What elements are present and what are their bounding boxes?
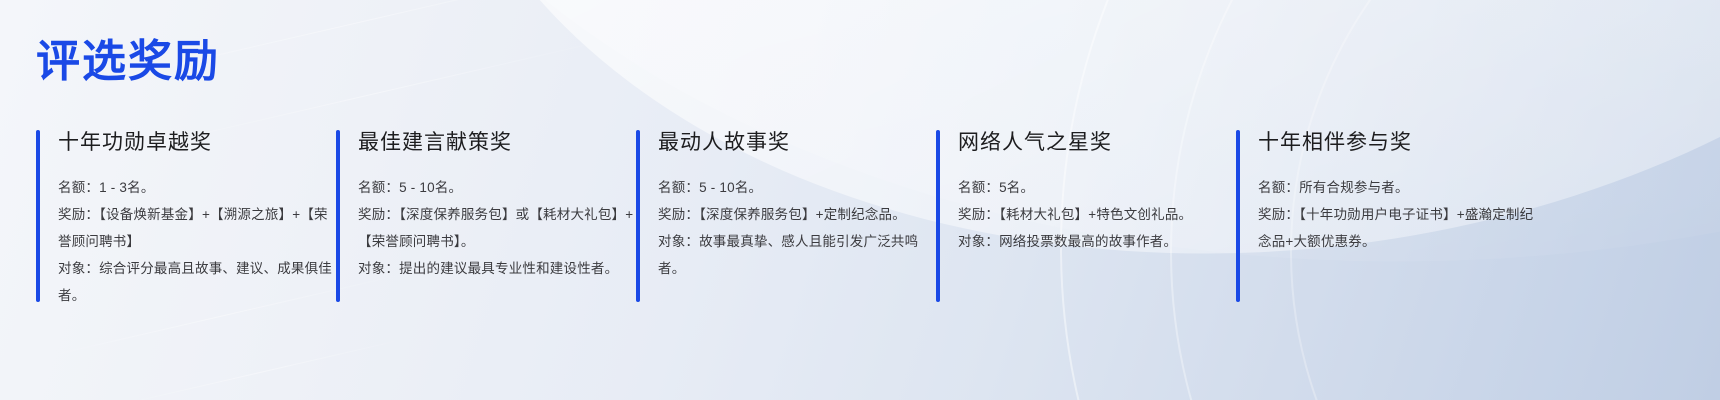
award-card: 网络人气之星奖 名额：5名。 奖励：【耗材大礼包】+特色文创礼品。 对象：网络投…	[936, 128, 1236, 255]
award-card: 最动人故事奖 名额：5 - 10名。 奖励：【深度保养服务包】+定制纪念品。 对…	[636, 128, 936, 282]
award-target: 对象：综合评分最高且故事、建议、成果俱佳者。	[58, 255, 336, 309]
slide-canvas: 评选奖励 十年功勋卓越奖 名额：1 - 3名。 奖励：【设备焕新基金】+【溯源之…	[0, 0, 1720, 400]
award-title: 十年相伴参与奖	[1258, 128, 1536, 158]
background-streak	[114, 338, 407, 400]
award-quota: 名额：5 - 10名。	[658, 174, 936, 201]
award-reward: 奖励：【耗材大礼包】+特色文创礼品。	[958, 201, 1236, 228]
award-target: 对象：故事最真挚、感人且能引发广泛共鸣者。	[658, 228, 936, 282]
award-accent-bar	[936, 130, 940, 302]
award-card: 十年相伴参与奖 名额：所有合规参与者。 奖励：【十年功勋用户电子证书】+盛瀚定制…	[1236, 128, 1536, 255]
award-accent-bar	[636, 130, 640, 302]
award-reward: 奖励：【深度保养服务包】或【耗材大礼包】+【荣誉顾问聘书】。	[358, 201, 636, 255]
award-accent-bar	[36, 130, 40, 302]
award-target: 对象：网络投票数最高的故事作者。	[958, 228, 1236, 255]
award-title: 网络人气之星奖	[958, 128, 1236, 158]
award-title: 最佳建言献策奖	[358, 128, 636, 158]
award-title: 十年功勋卓越奖	[58, 128, 336, 158]
award-card: 最佳建言献策奖 名额：5 - 10名。 奖励：【深度保养服务包】或【耗材大礼包】…	[336, 128, 636, 282]
award-accent-bar	[1236, 130, 1240, 302]
award-title: 最动人故事奖	[658, 128, 936, 158]
award-card: 十年功勋卓越奖 名额：1 - 3名。 奖励：【设备焕新基金】+【溯源之旅】+【荣…	[36, 128, 336, 309]
award-quota: 名额：1 - 3名。	[58, 174, 336, 201]
award-reward: 奖励：【设备焕新基金】+【溯源之旅】+【荣誉顾问聘书】	[58, 201, 336, 255]
award-accent-bar	[336, 130, 340, 302]
award-reward: 奖励：【深度保养服务包】+定制纪念品。	[658, 201, 936, 228]
award-quota: 名额：5 - 10名。	[358, 174, 636, 201]
award-reward: 奖励：【十年功勋用户电子证书】+盛瀚定制纪念品+大额优惠券。	[1258, 201, 1536, 255]
page-title: 评选奖励	[36, 34, 220, 90]
award-target: 对象：提出的建议最具专业性和建设性者。	[358, 255, 636, 282]
award-quota: 名额：5名。	[958, 174, 1236, 201]
award-quota: 名额：所有合规参与者。	[1258, 174, 1536, 201]
award-card-list: 十年功勋卓越奖 名额：1 - 3名。 奖励：【设备焕新基金】+【溯源之旅】+【荣…	[36, 128, 1696, 309]
